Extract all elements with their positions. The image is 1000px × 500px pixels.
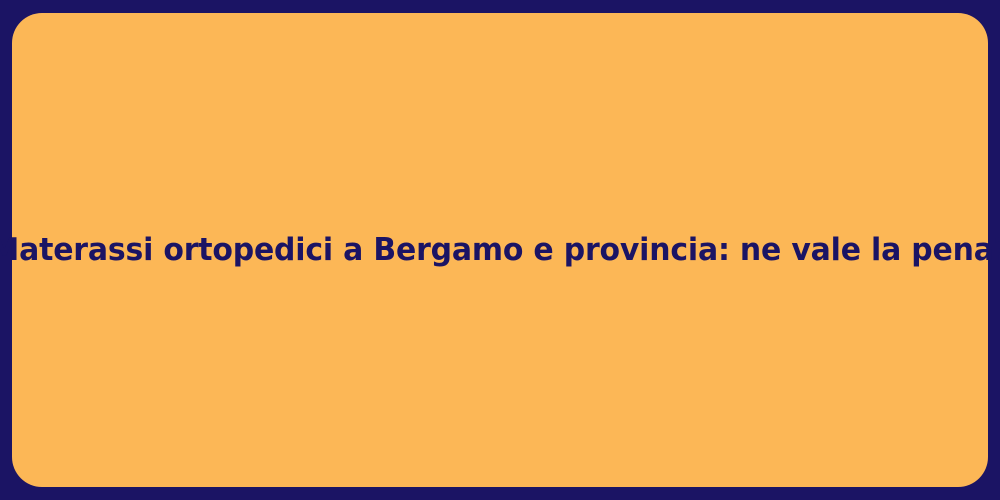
banner-title: Materassi ortopedici a Bergamo e provinc… bbox=[0, 231, 1000, 270]
banner-frame: Materassi ortopedici a Bergamo e provinc… bbox=[0, 0, 1000, 500]
banner-card: Materassi ortopedici a Bergamo e provinc… bbox=[12, 13, 988, 487]
